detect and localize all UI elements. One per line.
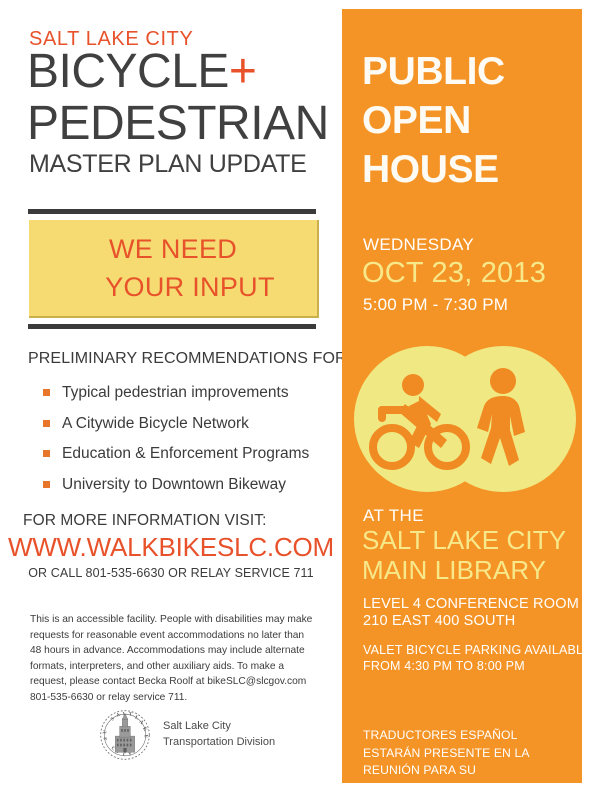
square-bullet-icon [43,481,50,488]
list-item-label: University to Downtown Bikeway [62,476,286,493]
spanish-translation-note: TRADUCTORES ESPAÑOL ESTARÁN PRESENTE EN … [363,727,568,792]
square-bullet-icon [43,450,50,457]
callout-line-2: YOUR INPUT [105,268,275,306]
headline-subtitle: MASTER PLAN UPDATE [29,150,307,179]
svg-text:T: T [129,712,133,718]
valet-parking-line-2: FROM 4:30 PM TO 8:00 PM [363,659,525,673]
event-date: OCT 23, 2013 [362,257,546,290]
svg-text:L: L [134,715,140,722]
list-item-label: Typical pedestrian improvements [62,384,289,401]
divider-rule-top [28,209,316,214]
event-weekday: WEDNESDAY [363,235,474,255]
divider-rule-bottom [28,324,316,329]
at-the-label: AT THE [363,506,424,526]
svg-text:A: A [115,712,122,719]
public-open-house-line-3: HOUSE [362,150,499,189]
list-item-label: Education & Enforcement Programs [62,445,309,462]
list-item: A Citywide Bicycle Network [43,416,333,432]
svg-text:U: U [102,730,108,734]
svg-text:S: S [103,736,110,741]
salt-lake-city-seal-icon: S A L T L A K E C I T Y S U [98,708,152,762]
valet-parking-line-1: VALET BICYCLE PARKING AVAILABLE [363,643,592,657]
public-open-house-line-2: OPEN [362,101,471,140]
svg-text:K: K [141,726,148,732]
logo-org-line-1: Salt Lake City [163,719,275,735]
call-to-action-box: WE NEED YOUR INPUT [29,220,319,318]
venue-name-line-1: SALT LAKE CITY [362,527,566,553]
recommendations-list: Typical pedestrian improvements A Citywi… [43,385,333,507]
list-item: Education & Enforcement Programs [43,446,333,462]
venue-name-line-2: MAIN LIBRARY [362,557,546,583]
logo-text-block: Salt Lake City Transportation Division [163,719,275,751]
square-bullet-icon [43,389,50,396]
venue-room: LEVEL 4 CONFERENCE ROOM [363,596,579,612]
square-bullet-icon [43,420,50,427]
left-column: SALT LAKE CITY BICYCLE+ PEDESTRIAN MASTE… [0,0,342,792]
accessibility-notice: This is an accessible facility. People w… [30,612,317,705]
list-item-label: A Citywide Bicycle Network [62,415,249,432]
public-open-house-line-1: PUBLIC [362,52,505,91]
website-url[interactable]: WWW.WALKBIKESLC.COM [0,532,342,563]
venue-street-address: 210 EAST 400 SOUTH [363,613,515,629]
city-logo-block: S A L T L A K E C I T Y S U [98,708,275,762]
logo-org-line-2: Transportation Division [163,735,275,751]
recommendations-label: PRELIMINARY RECOMMENDATIONS FOR: [28,350,351,368]
svg-text:A: A [138,719,145,726]
headline-bicycle-line: BICYCLE+ [27,48,256,96]
event-details-panel: PUBLIC OPEN HOUSE WEDNESDAY OCT 23, 2013… [342,9,582,783]
list-item: Typical pedestrian improvements [43,385,333,401]
list-item: University to Downtown Bikeway [43,477,333,493]
event-time: 5:00 PM - 7:30 PM [363,295,508,315]
phone-relay-line: OR CALL 801-535-6630 OR RELAY SERVICE 71… [0,566,342,580]
headline-word-bicycle: BICYCLE [27,45,229,98]
poster-canvas: SALT LAKE CITY BICYCLE+ PEDESTRIAN MASTE… [0,0,612,792]
headline-word-pedestrian: PEDESTRIAN [27,100,329,148]
more-info-label: FOR MORE INFORMATION VISIT: [23,512,267,530]
bike-pedestrian-badge [351,344,577,494]
headline-plus-sign: + [229,45,257,98]
callout-line-1: WE NEED [109,230,237,268]
